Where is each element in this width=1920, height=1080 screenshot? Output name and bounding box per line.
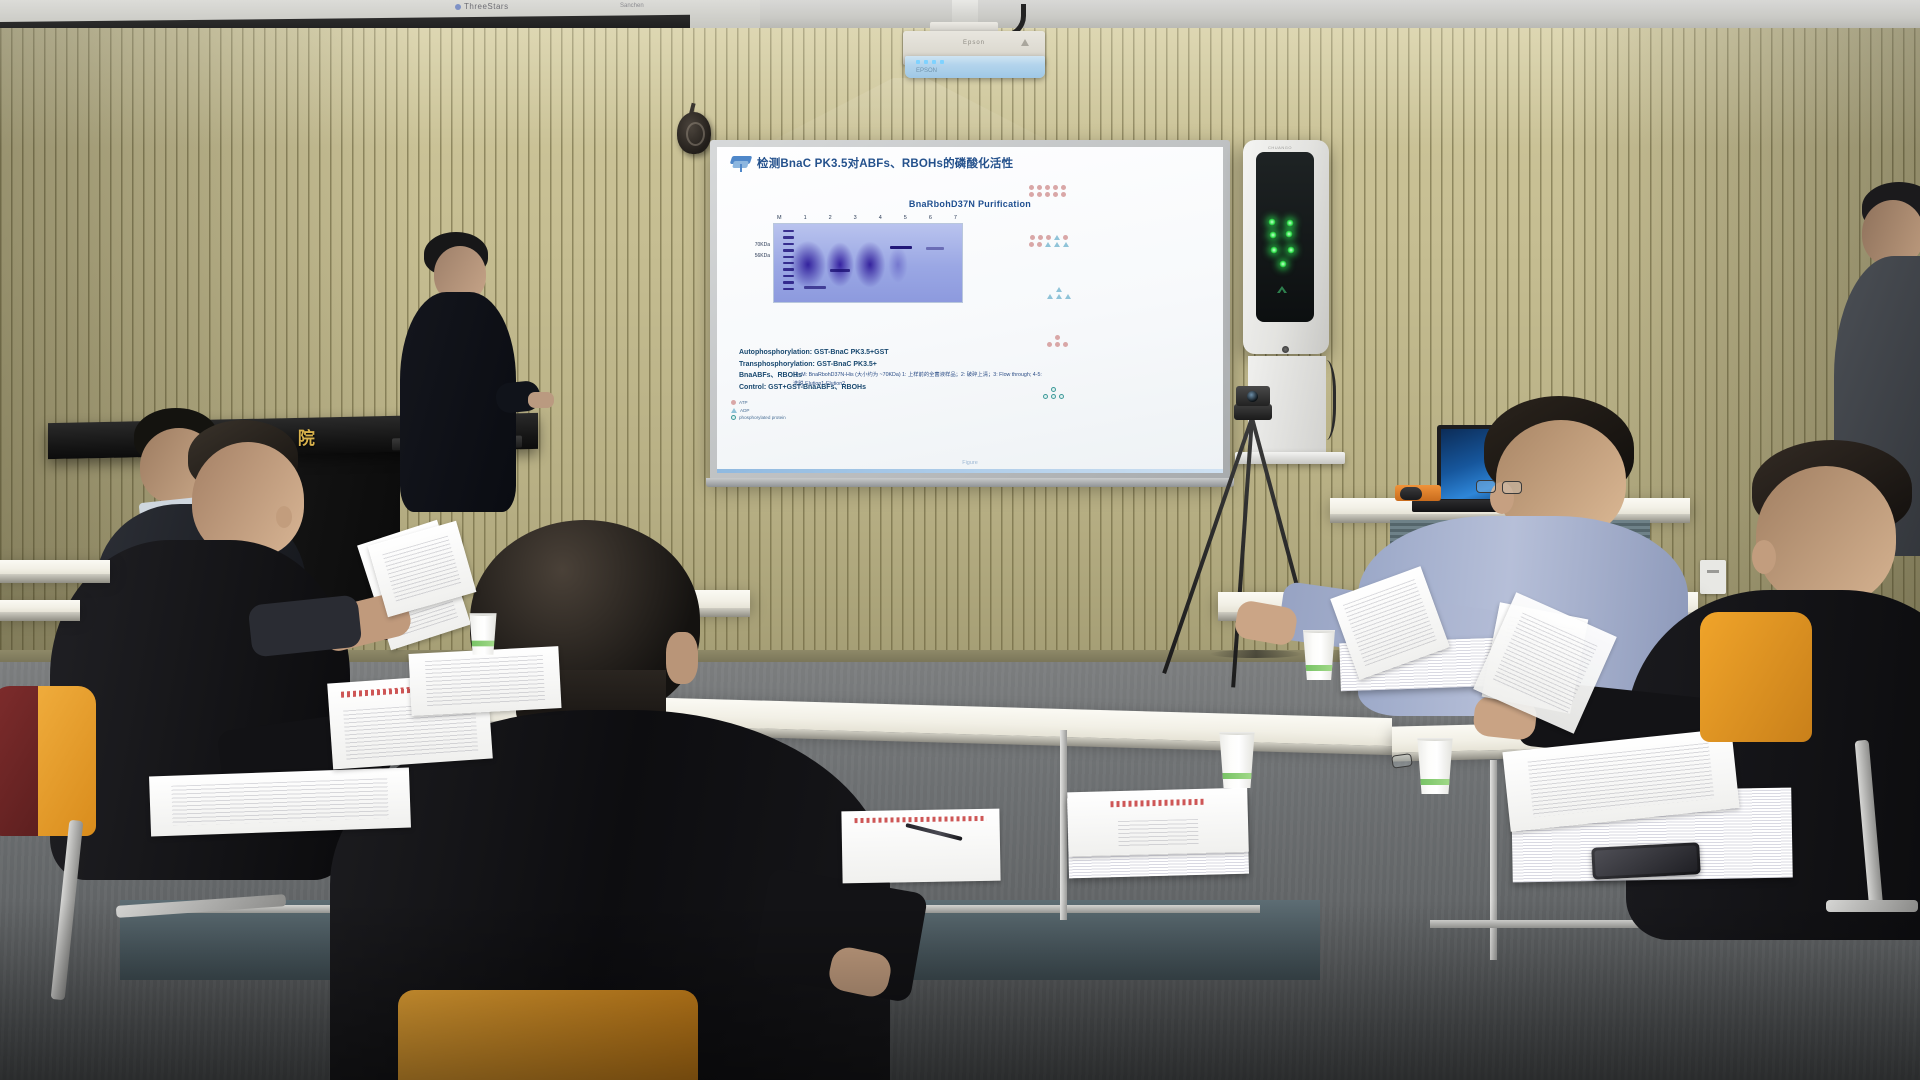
tripod-floor-shadow xyxy=(1210,650,1302,658)
wall-speaker xyxy=(677,112,711,154)
adp-triangle-icon xyxy=(731,408,737,413)
ear xyxy=(666,632,698,684)
tripod-leg xyxy=(1231,418,1254,688)
warning-triangle-icon xyxy=(1021,39,1029,46)
slide-bottom-accent-bar xyxy=(717,469,1223,473)
ac-model-label: Sanchen xyxy=(620,3,644,9)
chair-orange-right[interactable] xyxy=(1700,612,1812,742)
lane-label: M xyxy=(777,215,782,221)
projected-slide: 检测BnaC PK3.5对ABFs、RBOHs的磷酸化活性 BnaRbohD37… xyxy=(717,147,1223,473)
reaction-diagram-2 xyxy=(1029,235,1069,247)
lane-label: 6 xyxy=(929,215,932,221)
lane-label: 7 xyxy=(954,215,957,221)
legend-item: ADP xyxy=(731,407,786,415)
ac-brand-label: ThreeStars xyxy=(455,2,509,11)
gel-band xyxy=(890,246,912,249)
atp-circle-icon xyxy=(731,400,736,405)
gel-band xyxy=(830,269,850,272)
slide-footer: Figure xyxy=(717,460,1223,466)
kiosk-logo xyxy=(1277,286,1287,294)
gel-band xyxy=(926,247,944,250)
camera-tripod xyxy=(1190,380,1320,710)
lane-label: 1 xyxy=(804,215,807,221)
gel-figure: M 1 2 3 4 5 6 7 70KDa 56KDa xyxy=(773,215,963,303)
graduation-cap-logo-icon xyxy=(731,155,751,171)
ear xyxy=(1752,540,1776,574)
body-line: Control: GST+GST-BnaABFs、RBOHs xyxy=(739,382,889,394)
lane-label: 2 xyxy=(829,215,832,221)
body-line: Autophosphorylation: GST-BnaC PK3.5+GST xyxy=(739,347,889,359)
far-left-table xyxy=(0,560,110,574)
kiosk-brand-label: CHUANGO xyxy=(1268,145,1292,150)
slide-header: 检测BnaC PK3.5对ABFs、RBOHs的磷酸化活性 xyxy=(731,155,1213,171)
lane-label: 4 xyxy=(879,215,882,221)
tripod-head xyxy=(1234,404,1272,420)
phospho-hexagon-icon xyxy=(731,415,736,420)
chair-back-edge xyxy=(0,686,38,836)
computer-mouse[interactable] xyxy=(1400,487,1422,500)
lane-label: 5 xyxy=(904,215,907,221)
reaction-diagram-4 xyxy=(1047,335,1068,347)
gel-lane-labels: M 1 2 3 4 5 6 7 xyxy=(773,215,963,223)
reaction-diagram-5 xyxy=(1043,387,1064,399)
protein-ladder xyxy=(783,230,794,298)
projector-logo: EPSON xyxy=(916,68,937,74)
slide-title: 检测BnaC PK3.5对ABFs、RBOHs的磷酸化活性 xyxy=(757,155,1013,171)
head xyxy=(1756,466,1896,606)
foreground-shadow xyxy=(0,900,1920,1080)
ear xyxy=(276,506,292,528)
projector-status-leds xyxy=(916,60,944,64)
table-leg xyxy=(1060,730,1067,920)
smartphone[interactable] xyxy=(1591,842,1701,880)
slide-legend: ATP ADP phosphorylated protein xyxy=(731,399,786,422)
legend-item: phosphorylated protein xyxy=(731,414,786,422)
whiteboard-marker-tray xyxy=(706,478,1234,487)
hand xyxy=(528,392,554,408)
projector-brand-label: Epson xyxy=(963,40,985,46)
body-line: Transphosphorylation: GST-BnaC PK3.5+ xyxy=(739,359,889,371)
paper-sheet[interactable] xyxy=(149,767,411,836)
sds-page-gel-image: 70KDa 56KDa xyxy=(773,223,963,303)
webcam xyxy=(1236,386,1270,406)
gel-axis-labels: 70KDa 56KDa xyxy=(740,240,770,262)
paper-sheet[interactable] xyxy=(408,646,561,716)
kiosk-led-array xyxy=(1266,218,1306,270)
slide-body-text: Autophosphorylation: GST-BnaC PK3.5+GST … xyxy=(739,347,889,393)
far-left-table-2 xyxy=(0,600,80,612)
lane-label: 3 xyxy=(854,215,857,221)
meeting-room-photo: ThreeStars Sanchen Epson EPSON 检测BnaC xyxy=(0,0,1920,1080)
body-line: BnaABFs、RBOHs xyxy=(739,370,889,382)
person-presenter xyxy=(400,232,520,562)
booklet-left[interactable] xyxy=(841,809,1000,884)
kiosk-power-button[interactable] xyxy=(1282,346,1289,353)
reaction-diagram-3 xyxy=(1047,287,1071,299)
slide-subtitle: BnaRbohD37N Purification xyxy=(717,199,1223,209)
projection-whiteboard: 检测BnaC PK3.5对ABFs、RBOHs的磷酸化活性 BnaRbohD37… xyxy=(710,140,1230,480)
legend-item: ATP xyxy=(731,399,786,407)
reaction-diagram-1 xyxy=(1029,185,1066,197)
eyeglasses xyxy=(1476,480,1530,496)
ac-brand-dot xyxy=(455,4,461,10)
booklet-right[interactable] xyxy=(1067,788,1249,857)
gel-band xyxy=(804,286,826,289)
